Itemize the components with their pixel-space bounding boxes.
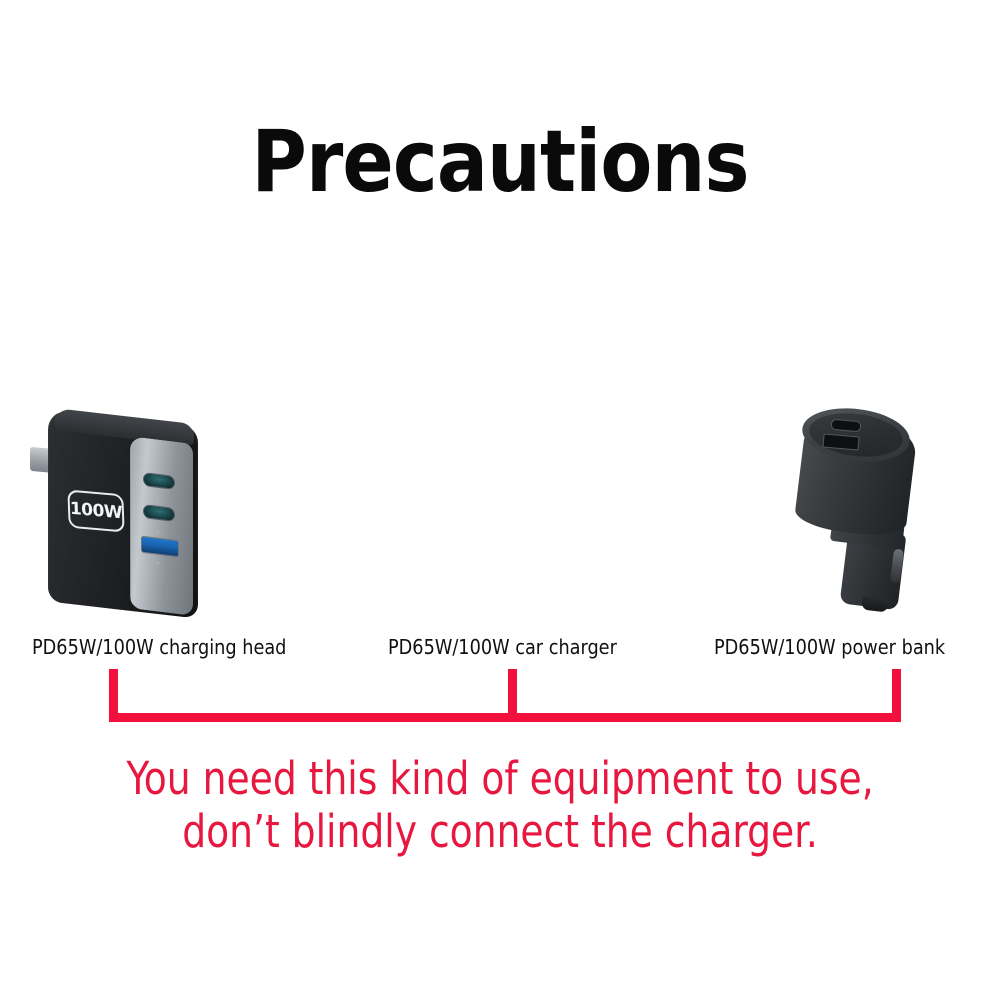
charger-port-panel <box>130 436 193 616</box>
caption-car-charger: PD65W/100W car charger <box>388 634 617 660</box>
wattage-badge: 100W <box>67 489 124 532</box>
caption-power-bank: PD65W/100W power bank <box>714 634 945 660</box>
caption-charging-head: PD65W/100W charging head <box>32 634 286 660</box>
warning-line-1: You need this kind of equipment to use, <box>35 752 965 805</box>
page-title: Precautions <box>60 112 940 212</box>
warning-line-2: don’t blindly connect the charger. <box>35 805 965 858</box>
bracket-tick-right <box>892 669 901 717</box>
grouping-bracket <box>0 660 1000 735</box>
product-power-bank <box>670 330 1000 620</box>
bracket-tick-middle <box>508 669 517 717</box>
bracket-bottom-bar <box>109 713 901 722</box>
bracket-tick-left <box>109 669 118 717</box>
warning-text: You need this kind of equipment to use, … <box>0 752 1000 858</box>
wall-charger-icon: 100W ⌷ ⌁ ⌁ <box>30 414 220 614</box>
product-car-charger <box>340 330 670 620</box>
product-image-row: 100W ⌷ ⌁ ⌁ <box>0 330 1000 620</box>
product-charging-head: 100W ⌷ ⌁ ⌁ <box>0 330 340 620</box>
wattage-badge-label: 100W <box>70 499 123 524</box>
